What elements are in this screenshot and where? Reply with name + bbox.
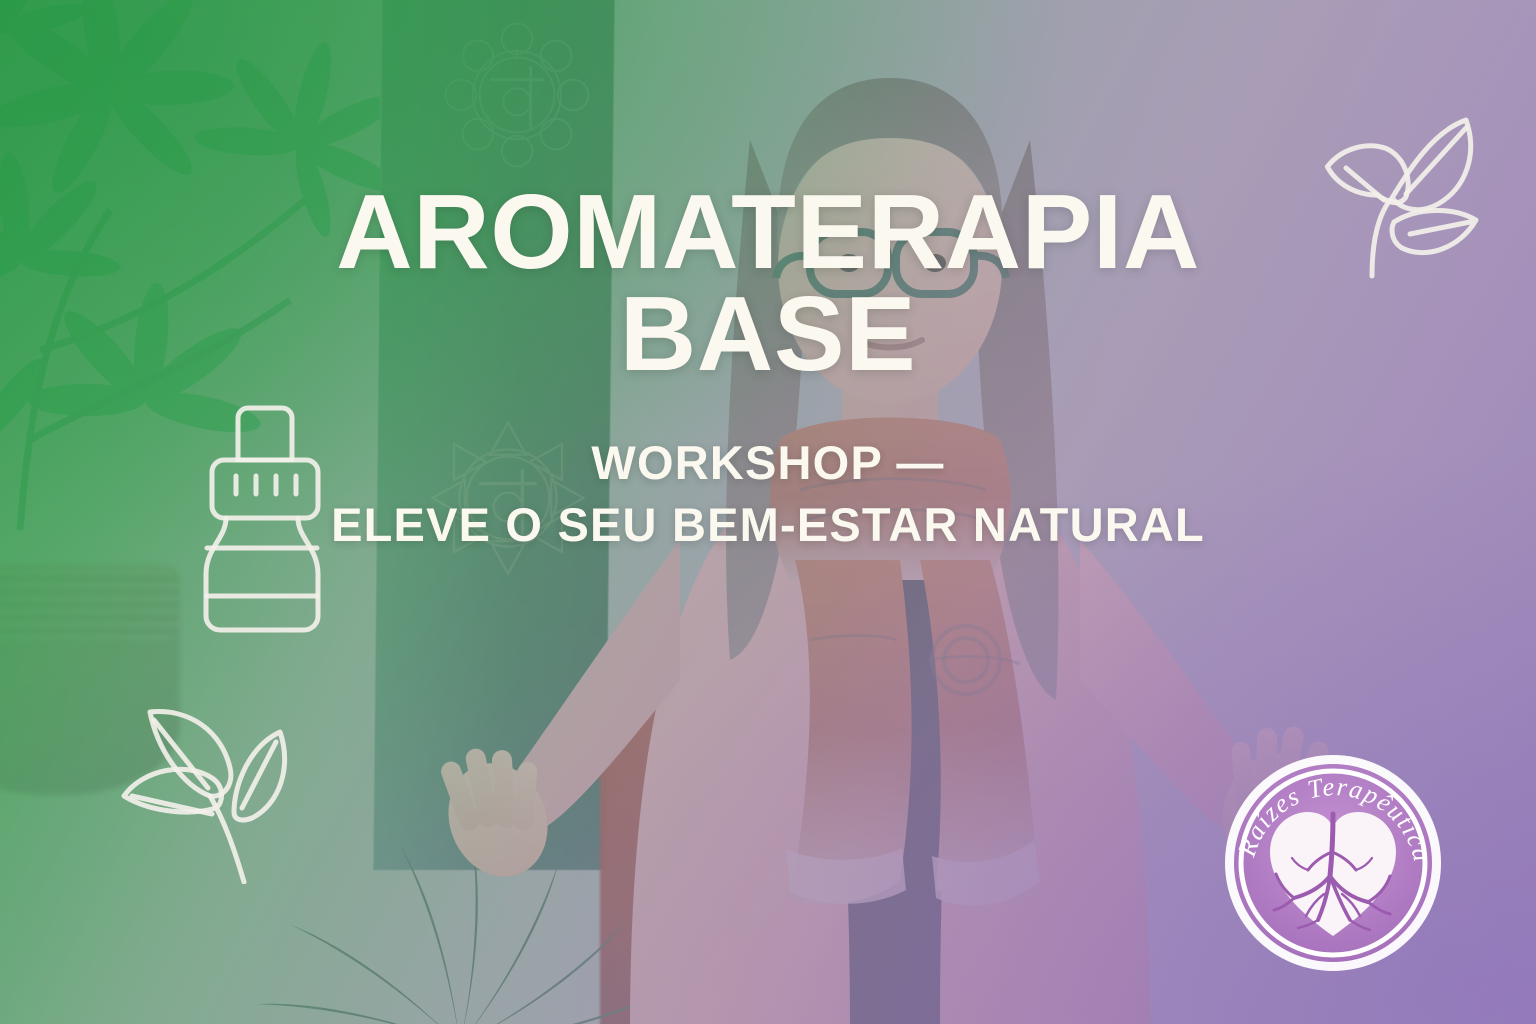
poster-canvas: AROMATERAPIA BASE WORKSHOP — ELEVE O SEU… xyxy=(0,0,1536,1024)
poster-subtitle: WORKSHOP — ELEVE O SEU BEM-ESTAR NATURAL xyxy=(0,432,1536,558)
subtitle-line-1: WORKSHOP — xyxy=(591,436,944,489)
poster-text-block: AROMATERAPIA BASE WORKSHOP — ELEVE O SEU… xyxy=(0,182,1536,557)
leaf-sprig-icon xyxy=(116,692,332,884)
title-line-2: BASE xyxy=(0,284,1536,386)
page-title: AROMATERAPIA BASE xyxy=(0,182,1536,386)
subtitle-line-2: ELEVE O SEU BEM-ESTAR NATURAL xyxy=(0,494,1536,557)
title-line-1: AROMATERAPIA xyxy=(336,173,1200,291)
brand-logo: Raízes Terapêuticas xyxy=(1222,752,1444,974)
